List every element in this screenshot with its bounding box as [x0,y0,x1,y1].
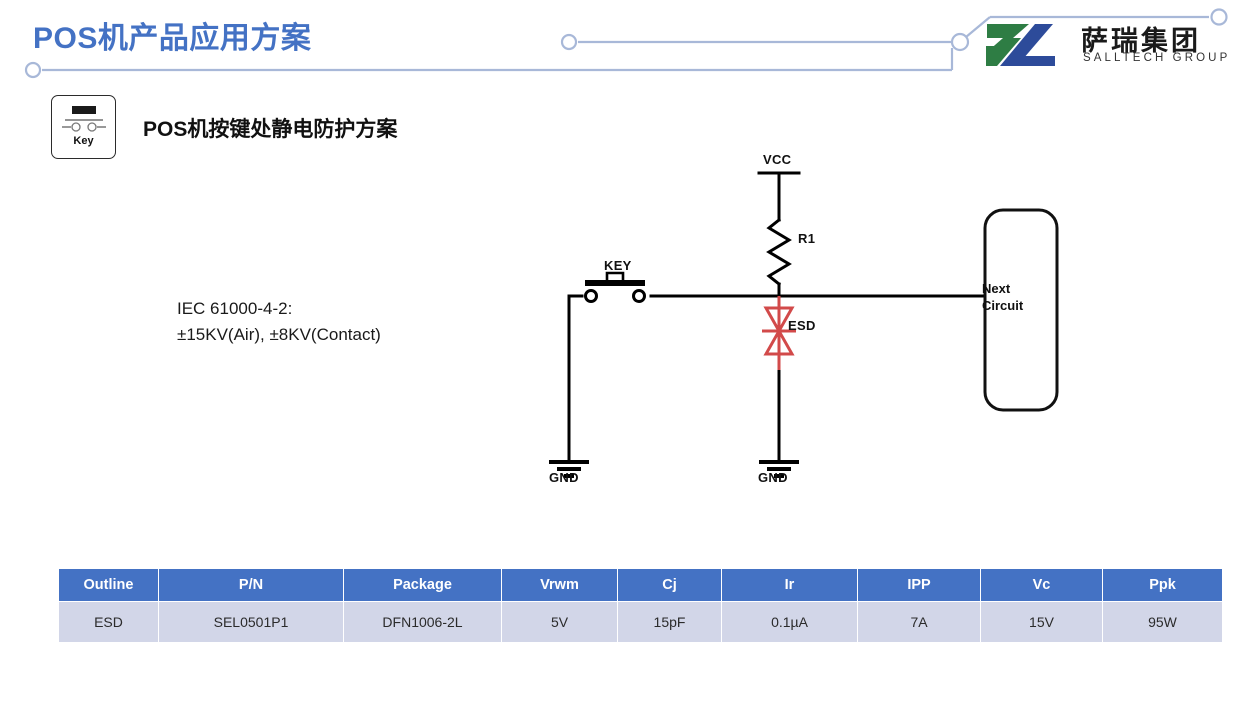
label-r1: R1 [798,231,815,246]
company-logo: 萨瑞集团 SALLTECH GROUP [983,20,1208,70]
iec-note-line1: IEC 61000-4-2: [177,296,381,322]
table-cell: 15V [981,602,1103,643]
label-next-circuit: Next Circuit [982,280,1072,314]
key-icon-label: Key [52,135,115,147]
spec-table: Outline P/N Package Vrwm Cj Ir IPP Vc Pp… [58,568,1223,643]
table-row: ESD SEL0501P1 DFN1006-2L 5V 15pF 0.1µA 7… [59,602,1223,643]
table-header-cell: Package [344,569,502,602]
table-cell: DFN1006-2L [344,602,502,643]
iec-note-line2: ±15KV(Air), ±8KV(Contact) [177,322,381,348]
iec-standard-note: IEC 61000-4-2: ±15KV(Air), ±8KV(Contact) [177,296,381,348]
table-header-cell: P/N [159,569,344,602]
esd-tvs-diode-symbol [762,296,796,370]
next-circuit-line2: Circuit [982,297,1072,314]
table-header-cell: Vc [981,569,1103,602]
circuit-diagram: VCC R1 KEY ESD GND GND Next Circuit [520,140,1100,510]
table-cell: 95W [1103,602,1223,643]
section-subtitle-cn: 机按键处静电防护方案 [187,116,397,141]
table-header-cell: Vrwm [502,569,618,602]
label-esd: ESD [788,318,816,333]
next-circuit-line1: Next [982,280,1072,297]
table-cell: 15pF [618,602,722,643]
label-key: KEY [604,258,632,273]
table-header-cell: IPP [858,569,981,602]
section-subtitle-latin: POS [143,118,187,141]
page-title: POS机产品应用方案 [33,13,311,57]
section-subtitle: POS机按键处静电防护方案 [143,113,397,143]
table-header-cell: Cj [618,569,722,602]
label-gnd-left: GND [549,470,579,485]
table-cell: 5V [502,602,618,643]
key-switch-icon [52,100,115,138]
key-icon-box: Key [51,95,116,159]
table-header-cell: Ppk [1103,569,1223,602]
table-header-row: Outline P/N Package Vrwm Cj Ir IPP Vc Pp… [59,569,1223,602]
label-gnd-right: GND [758,470,788,485]
table-cell: 7A [858,602,981,643]
table-header-cell: Ir [722,569,858,602]
table-cell: SEL0501P1 [159,602,344,643]
label-vcc: VCC [763,152,791,167]
key-switch-symbol [585,273,645,302]
table-header-cell: Outline [59,569,159,602]
salltech-logo-mark [983,22,1075,68]
table-cell: 0.1µA [722,602,858,643]
table-cell: ESD [59,602,159,643]
logo-name-en: SALLTECH GROUP [1083,52,1230,64]
